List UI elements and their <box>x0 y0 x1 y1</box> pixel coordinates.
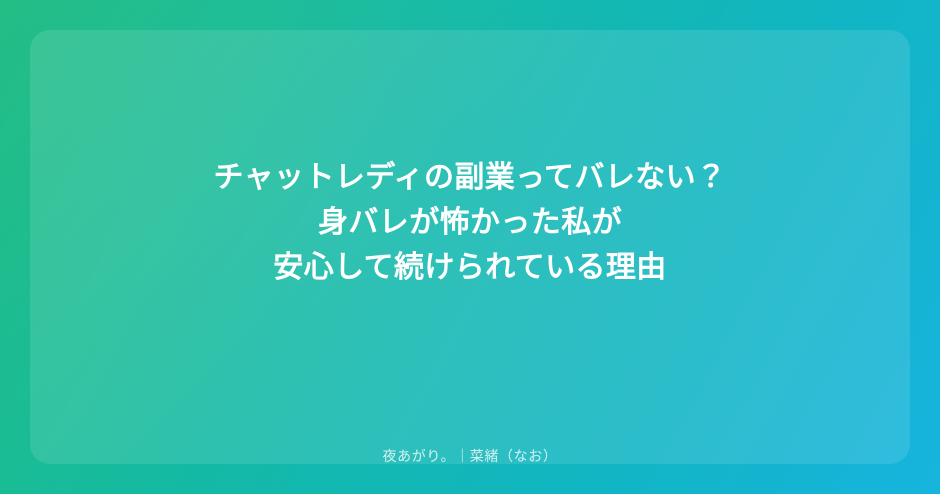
eyecatch-canvas: チャットレディの副業ってバレない？ 身バレが怖かった私が 安心して続けられている… <box>0 0 940 494</box>
inner-card-panel <box>30 30 910 464</box>
